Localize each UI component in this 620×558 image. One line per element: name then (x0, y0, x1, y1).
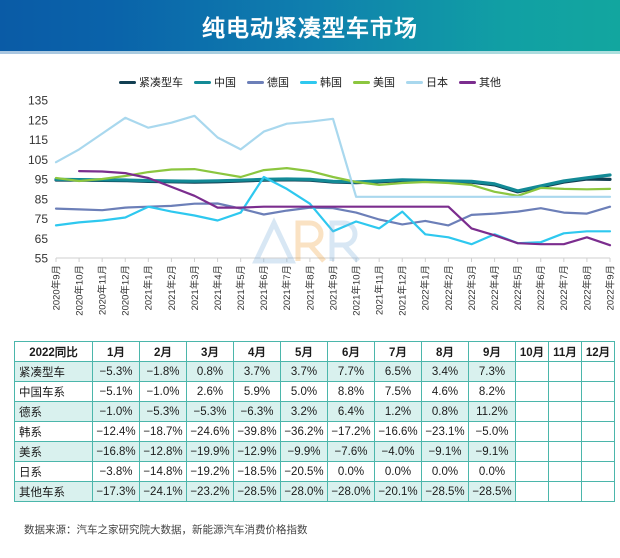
table-cell: 3.7% (281, 362, 328, 382)
svg-text:2020年12月: 2020年12月 (120, 265, 132, 316)
x-axis-tick-label: 2021年12月 (397, 265, 409, 316)
series-line-5 (56, 116, 610, 197)
table-row: 中国车系−5.1%−1.0%2.6%5.9%5.0%8.8%7.5%4.6%8.… (15, 382, 615, 402)
table-cell: −9.1% (422, 442, 469, 462)
table-cell (549, 482, 582, 502)
table-row: 日系−3.8%−14.8%−19.2%−18.5%−20.5%0.0%0.0%0… (15, 462, 615, 482)
legend-item-6[interactable]: 其他 (459, 74, 501, 90)
legend-item-1[interactable]: 中国 (194, 74, 236, 90)
table-cell: −7.6% (328, 442, 375, 462)
x-axis-tick-label: 2022年4月 (489, 265, 501, 310)
table-cell (516, 442, 549, 462)
svg-text:2021年4月: 2021年4月 (212, 265, 224, 310)
table-cell: 0.8% (187, 362, 234, 382)
page-title: 纯电动紧凑型车市场 (202, 9, 418, 43)
table-cell: 6.5% (375, 362, 422, 382)
table-cell: 7.7% (328, 362, 375, 382)
table-cell: 3.7% (234, 362, 281, 382)
table-cell: −28.5% (469, 482, 516, 502)
table-cell: −20.5% (281, 462, 328, 482)
table-cell: −9.9% (281, 442, 328, 462)
table-cell (516, 382, 549, 402)
svg-text:2020年9月: 2020年9月 (50, 265, 62, 310)
legend-label: 韩国 (320, 74, 342, 90)
x-axis-tick-label: 2020年11月 (97, 265, 109, 315)
legend-item-0[interactable]: 紧凑型车 (119, 74, 183, 90)
svg-text:2022年1月: 2022年1月 (420, 265, 432, 310)
table-cell (582, 422, 615, 442)
legend-swatch-icon (247, 81, 264, 84)
x-axis-tick-label: 2022年2月 (443, 265, 455, 310)
legend-swatch-icon (459, 81, 476, 84)
table-cell: −1.8% (140, 362, 187, 382)
legend-swatch-icon (300, 81, 317, 84)
table-column-header: 11月 (549, 342, 582, 362)
x-axis-tick-label: 2020年10月 (74, 265, 86, 316)
table-row-label: 韩系 (15, 422, 93, 442)
table-column-header: 10月 (516, 342, 549, 362)
table-cell: −36.2% (281, 422, 328, 442)
y-axis-tick-label: 135 (28, 94, 48, 108)
table-cell: 0.0% (469, 462, 516, 482)
svg-text:2021年12月: 2021年12月 (397, 265, 409, 316)
table-cell (549, 362, 582, 382)
table-cell: −1.0% (93, 402, 140, 422)
table-cell: 4.6% (422, 382, 469, 402)
x-axis-tick-label: 2020年12月 (120, 265, 132, 316)
table-row-label: 美系 (15, 442, 93, 462)
table-cell: −23.2% (187, 482, 234, 502)
table-cell: 6.4% (328, 402, 375, 422)
svg-text:2021年6月: 2021年6月 (258, 265, 270, 310)
table-row-label: 日系 (15, 462, 93, 482)
table-cell: 3.4% (422, 362, 469, 382)
table-row: 美系−16.8%−12.8%−19.9%−12.9%−9.9%−7.6%−4.0… (15, 442, 615, 462)
svg-text:2022年9月: 2022年9月 (604, 265, 616, 310)
svg-text:2021年7月: 2021年7月 (281, 265, 293, 310)
legend-item-3[interactable]: 韩国 (300, 74, 342, 90)
svg-text:2022年7月: 2022年7月 (558, 265, 570, 310)
svg-text:2020年11月: 2020年11月 (97, 265, 109, 315)
table-cell: 0.8% (422, 402, 469, 422)
legend-swatch-icon (119, 81, 136, 84)
x-axis-tick-label: 2022年6月 (535, 265, 547, 310)
table-column-header: 9月 (469, 342, 516, 362)
table-row: 韩系−12.4%−18.7%−24.6%−39.8%−36.2%−17.2%−1… (15, 422, 615, 442)
table-corner-label: 2022同比 (15, 342, 93, 362)
svg-text:2021年10月: 2021年10月 (351, 265, 363, 316)
table-cell: 7.5% (375, 382, 422, 402)
table-cell: 0.0% (328, 462, 375, 482)
table-cell: 3.2% (281, 402, 328, 422)
x-axis-tick-label: 2021年11月 (374, 265, 386, 315)
table-cell (549, 462, 582, 482)
table-cell: 0.0% (422, 462, 469, 482)
table-column-header: 4月 (234, 342, 281, 362)
legend-label: 其他 (479, 74, 501, 90)
svg-text:2022年8月: 2022年8月 (581, 265, 593, 310)
legend-label: 日本 (426, 74, 448, 90)
table-row: 其他车系−17.3%−24.1%−23.2%−28.5%−28.0%−28.0%… (15, 482, 615, 502)
table-cell: −19.2% (187, 462, 234, 482)
table-cell: −12.9% (234, 442, 281, 462)
table-cell: −9.1% (469, 442, 516, 462)
table-cell (516, 422, 549, 442)
svg-text:2022年6月: 2022年6月 (535, 265, 547, 310)
table-cell: −28.0% (328, 482, 375, 502)
x-axis-tick-label: 2021年6月 (258, 265, 270, 310)
table-cell (516, 362, 549, 382)
table-cell (582, 382, 615, 402)
table-cell (516, 462, 549, 482)
y-axis-tick-label: 95 (35, 173, 49, 187)
table-row-label: 德系 (15, 402, 93, 422)
table-cell: −1.0% (140, 382, 187, 402)
table-cell: −17.2% (328, 422, 375, 442)
table-cell: −24.6% (187, 422, 234, 442)
table-cell (582, 402, 615, 422)
table-cell: −19.9% (187, 442, 234, 462)
table-column-header: 3月 (187, 342, 234, 362)
svg-text:2022年3月: 2022年3月 (466, 265, 478, 310)
table-cell: −16.6% (375, 422, 422, 442)
x-axis-tick-label: 2021年7月 (281, 265, 293, 310)
table-column-header: 12月 (582, 342, 615, 362)
table-column-header: 5月 (281, 342, 328, 362)
legend-item-5[interactable]: 日本 (406, 74, 448, 90)
table-column-header: 6月 (328, 342, 375, 362)
svg-text:2021年9月: 2021年9月 (327, 265, 339, 310)
legend-label: 德国 (267, 74, 289, 90)
table-cell: 5.0% (281, 382, 328, 402)
legend-label: 紧凑型车 (139, 74, 183, 90)
table-cell: −12.4% (93, 422, 140, 442)
legend-swatch-icon (353, 81, 370, 84)
table-header-row: 2022同比1月2月3月4月5月6月7月8月9月10月11月12月 (15, 342, 615, 362)
x-axis-tick-label: 2021年1月 (143, 265, 155, 310)
legend-swatch-icon (194, 81, 211, 84)
table-cell: −4.0% (375, 442, 422, 462)
table-cell: −23.1% (422, 422, 469, 442)
comparison-table-wrapper: 2022同比1月2月3月4月5月6月7月8月9月10月11月12月 紧凑型车−5… (14, 341, 608, 502)
x-axis-tick-label: 2022年9月 (604, 265, 616, 310)
y-axis-tick-label: 125 (28, 113, 48, 127)
svg-text:2021年1月: 2021年1月 (143, 265, 155, 310)
source-note: 数据来源：汽车之家研究院大数据，新能源汽车消费价格指数 (24, 522, 308, 537)
legend-label: 中国 (214, 74, 236, 90)
legend-label: 美国 (373, 74, 395, 90)
svg-text:2020年10月: 2020年10月 (74, 265, 86, 316)
x-axis-tick-label: 2021年3月 (189, 265, 201, 310)
svg-text:2021年8月: 2021年8月 (304, 265, 316, 310)
table-cell: −20.1% (375, 482, 422, 502)
table-cell: −18.7% (140, 422, 187, 442)
table-cell (582, 362, 615, 382)
legend-item-4[interactable]: 美国 (353, 74, 395, 90)
table-cell: −17.3% (93, 482, 140, 502)
table-cell: −3.8% (93, 462, 140, 482)
table-column-header: 8月 (422, 342, 469, 362)
table-cell: −5.3% (187, 402, 234, 422)
table-cell: 8.8% (328, 382, 375, 402)
table-row: 德系−1.0%−5.3%−5.3%−6.3%3.2%6.4%1.2%0.8%11… (15, 402, 615, 422)
table-column-header: 7月 (375, 342, 422, 362)
table-cell (516, 482, 549, 502)
x-axis-tick-label: 2021年2月 (166, 265, 178, 310)
table-cell: −14.8% (140, 462, 187, 482)
table-cell (549, 422, 582, 442)
banner-underline (0, 51, 620, 54)
table-cell: 8.2% (469, 382, 516, 402)
legend-swatch-icon (406, 81, 423, 84)
table-cell: 11.2% (469, 402, 516, 422)
table-cell: −5.0% (469, 422, 516, 442)
x-axis-tick-label: 2021年4月 (212, 265, 224, 310)
table-cell: −5.3% (140, 402, 187, 422)
table-cell: 1.2% (375, 402, 422, 422)
table-body: 紧凑型车−5.3%−1.8%0.8%3.7%3.7%7.7%6.5%3.4%7.… (15, 362, 615, 502)
y-axis-tick-label: 85 (35, 192, 49, 206)
table-cell (549, 382, 582, 402)
table-cell: 2.6% (187, 382, 234, 402)
table-cell: 5.9% (234, 382, 281, 402)
table-column-header: 1月 (93, 342, 140, 362)
table-cell: −28.5% (422, 482, 469, 502)
svg-text:2021年3月: 2021年3月 (189, 265, 201, 310)
chart-area: 55657585951051151251352020年9月2020年10月202… (0, 92, 620, 330)
svg-text:2021年5月: 2021年5月 (235, 265, 247, 310)
x-axis-tick-label: 2021年8月 (304, 265, 316, 310)
x-axis-tick-label: 2021年9月 (327, 265, 339, 310)
table-cell (582, 442, 615, 462)
y-axis-tick-label: 65 (35, 232, 49, 246)
svg-text:2022年2月: 2022年2月 (443, 265, 455, 310)
x-axis-tick-label: 2022年7月 (558, 265, 570, 310)
table-row-label: 紧凑型车 (15, 362, 93, 382)
x-axis-tick-label: 2020年9月 (50, 265, 62, 310)
x-axis-tick-label: 2022年5月 (512, 265, 524, 310)
svg-text:2022年4月: 2022年4月 (489, 265, 501, 310)
x-axis-tick-label: 2022年8月 (581, 265, 593, 310)
table-column-header: 2月 (140, 342, 187, 362)
table-cell: −39.8% (234, 422, 281, 442)
x-axis-tick-label: 2022年1月 (420, 265, 432, 310)
table-cell: −5.1% (93, 382, 140, 402)
table-cell: −16.8% (93, 442, 140, 462)
table-cell: 0.0% (375, 462, 422, 482)
svg-text:2021年11月: 2021年11月 (374, 265, 386, 315)
chart-legend: 紧凑型车中国德国韩国美国日本其他 (0, 72, 620, 92)
table-cell: −18.5% (234, 462, 281, 482)
table-cell: −6.3% (234, 402, 281, 422)
line-chart: 55657585951051151251352020年9月2020年10月202… (0, 92, 620, 330)
x-axis-tick-label: 2022年3月 (466, 265, 478, 310)
table-row: 紧凑型车−5.3%−1.8%0.8%3.7%3.7%7.7%6.5%3.4%7.… (15, 362, 615, 382)
x-axis-tick-label: 2021年5月 (235, 265, 247, 310)
table-cell: −5.3% (93, 362, 140, 382)
table-cell (549, 442, 582, 462)
svg-text:2021年2月: 2021年2月 (166, 265, 178, 310)
table-cell: 7.3% (469, 362, 516, 382)
table-row-label: 中国车系 (15, 382, 93, 402)
x-axis-tick-label: 2021年10月 (351, 265, 363, 316)
table-row-label: 其他车系 (15, 482, 93, 502)
table-cell (549, 402, 582, 422)
table-cell: −28.0% (281, 482, 328, 502)
table-cell (582, 462, 615, 482)
y-axis-tick-label: 115 (29, 133, 48, 147)
y-axis-tick-label: 75 (35, 212, 49, 226)
legend-item-2[interactable]: 德国 (247, 74, 289, 90)
svg-text:2022年5月: 2022年5月 (512, 265, 524, 310)
yoy-comparison-table: 2022同比1月2月3月4月5月6月7月8月9月10月11月12月 紧凑型车−5… (14, 341, 615, 502)
table-cell: −28.5% (234, 482, 281, 502)
y-axis-tick-label: 55 (35, 252, 49, 266)
y-axis-tick-label: 105 (28, 153, 48, 167)
table-cell: −12.8% (140, 442, 187, 462)
table-cell (516, 402, 549, 422)
table-cell (582, 482, 615, 502)
page-banner: 纯电动紧凑型车市场 (0, 0, 620, 51)
table-cell: −24.1% (140, 482, 187, 502)
